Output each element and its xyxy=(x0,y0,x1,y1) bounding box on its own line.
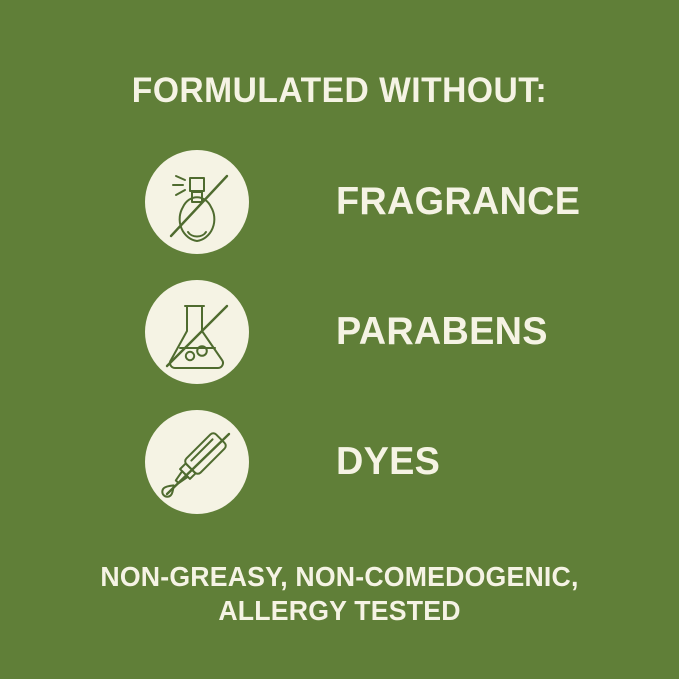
formulated-without-poster: FORMULATED WITHOUT: FRAGRANCE xyxy=(0,0,679,679)
benefit-label-parabens: PARABENS xyxy=(336,280,548,384)
footer-claims-line-1: NON-GREASY, NON-COMEDOGENIC, xyxy=(10,560,669,594)
benefit-row-fragrance: FRAGRANCE xyxy=(0,150,679,254)
benefit-label-fragrance: FRAGRANCE xyxy=(336,150,580,254)
page-title: FORMULATED WITHOUT: xyxy=(14,69,666,113)
benefit-row-parabens: PARABENS xyxy=(0,280,679,384)
footer-claims: NON-GREASY, NON-COMEDOGENIC, ALLERGY TES… xyxy=(10,560,669,628)
no-erlenmeyer-flask-icon xyxy=(145,280,249,384)
no-dropper-pipette-icon xyxy=(145,410,249,514)
no-perfume-bottle-icon xyxy=(145,150,249,254)
benefit-row-dyes: DYES xyxy=(0,410,679,514)
footer-claims-line-2: ALLERGY TESTED xyxy=(10,594,669,628)
benefit-label-dyes: DYES xyxy=(336,410,440,514)
